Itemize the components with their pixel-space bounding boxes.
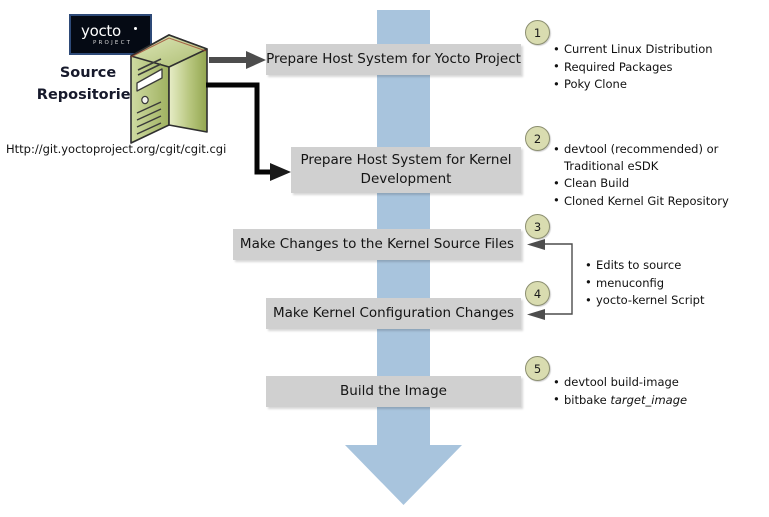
- step-badge-5: 5: [525, 356, 550, 381]
- list-item: Clean Build: [553, 175, 729, 192]
- step-badge-1: 1: [525, 20, 550, 45]
- list-item: Current Linux Distribution: [553, 41, 713, 58]
- bullet-text: devtool build-image: [564, 375, 679, 389]
- process-box-step-3[interactable]: Make Changes to the Kernel Source Files: [233, 229, 521, 260]
- list-item: yocto-kernel Script: [585, 292, 705, 309]
- server-tower-icon: [128, 29, 210, 145]
- list-item: Poky Clone: [553, 76, 713, 93]
- bullet-text: Edits to source: [596, 258, 681, 272]
- process-box-step-1[interactable]: Prepare Host System for Yocto Project: [266, 44, 521, 75]
- bullet-text: bitbake: [564, 393, 610, 407]
- bullet-text: Cloned Kernel Git Repository: [564, 194, 729, 208]
- list-item: devtool build-image: [553, 374, 687, 391]
- bullet-list-step-2: devtool (recommended) or Traditional eSD…: [553, 141, 729, 210]
- step-badge-2: 2: [525, 126, 550, 151]
- bullet-text: devtool (recommended) or: [564, 142, 718, 156]
- bullet-text: Clean Build: [564, 176, 629, 190]
- process-box-step-2[interactable]: Prepare Host System for Kernel Developme…: [291, 147, 521, 193]
- bullet-text-continuation: Traditional eSDK: [564, 158, 729, 175]
- bullet-text: Poky Clone: [564, 77, 627, 91]
- list-item: bitbake target_image: [553, 392, 687, 409]
- step-badge-4: 4: [525, 281, 550, 306]
- bullet-text-emphasis: target_image: [610, 393, 687, 407]
- bullet-list-step-1: Current Linux Distribution Required Pack…: [553, 41, 713, 94]
- bullet-list-step-5: devtool build-image bitbake target_image: [553, 374, 687, 409]
- diagram-canvas: yocto PROJECT Source Repositories Http:/…: [0, 0, 769, 517]
- list-item: Required Packages: [553, 59, 713, 76]
- bullet-text: menuconfig: [596, 276, 664, 290]
- list-item: Edits to source: [585, 257, 705, 274]
- bullet-list-steps-3-4: Edits to source menuconfig yocto-kernel …: [585, 257, 705, 310]
- list-item: Cloned Kernel Git Repository: [553, 193, 729, 210]
- logo-subtitle: PROJECT: [93, 40, 132, 46]
- bullet-text: Current Linux Distribution: [564, 42, 713, 56]
- bullet-text: yocto-kernel Script: [596, 293, 705, 307]
- list-item: devtool (recommended) or Traditional eSD…: [553, 141, 729, 174]
- process-box-step-4[interactable]: Make Kernel Configuration Changes: [266, 298, 521, 329]
- process-box-step-5[interactable]: Build the Image: [266, 376, 521, 407]
- step-badge-3: 3: [525, 214, 550, 239]
- bullet-text: Required Packages: [564, 60, 673, 74]
- list-item: menuconfig: [585, 275, 705, 292]
- logo-wordmark: yocto: [81, 22, 121, 40]
